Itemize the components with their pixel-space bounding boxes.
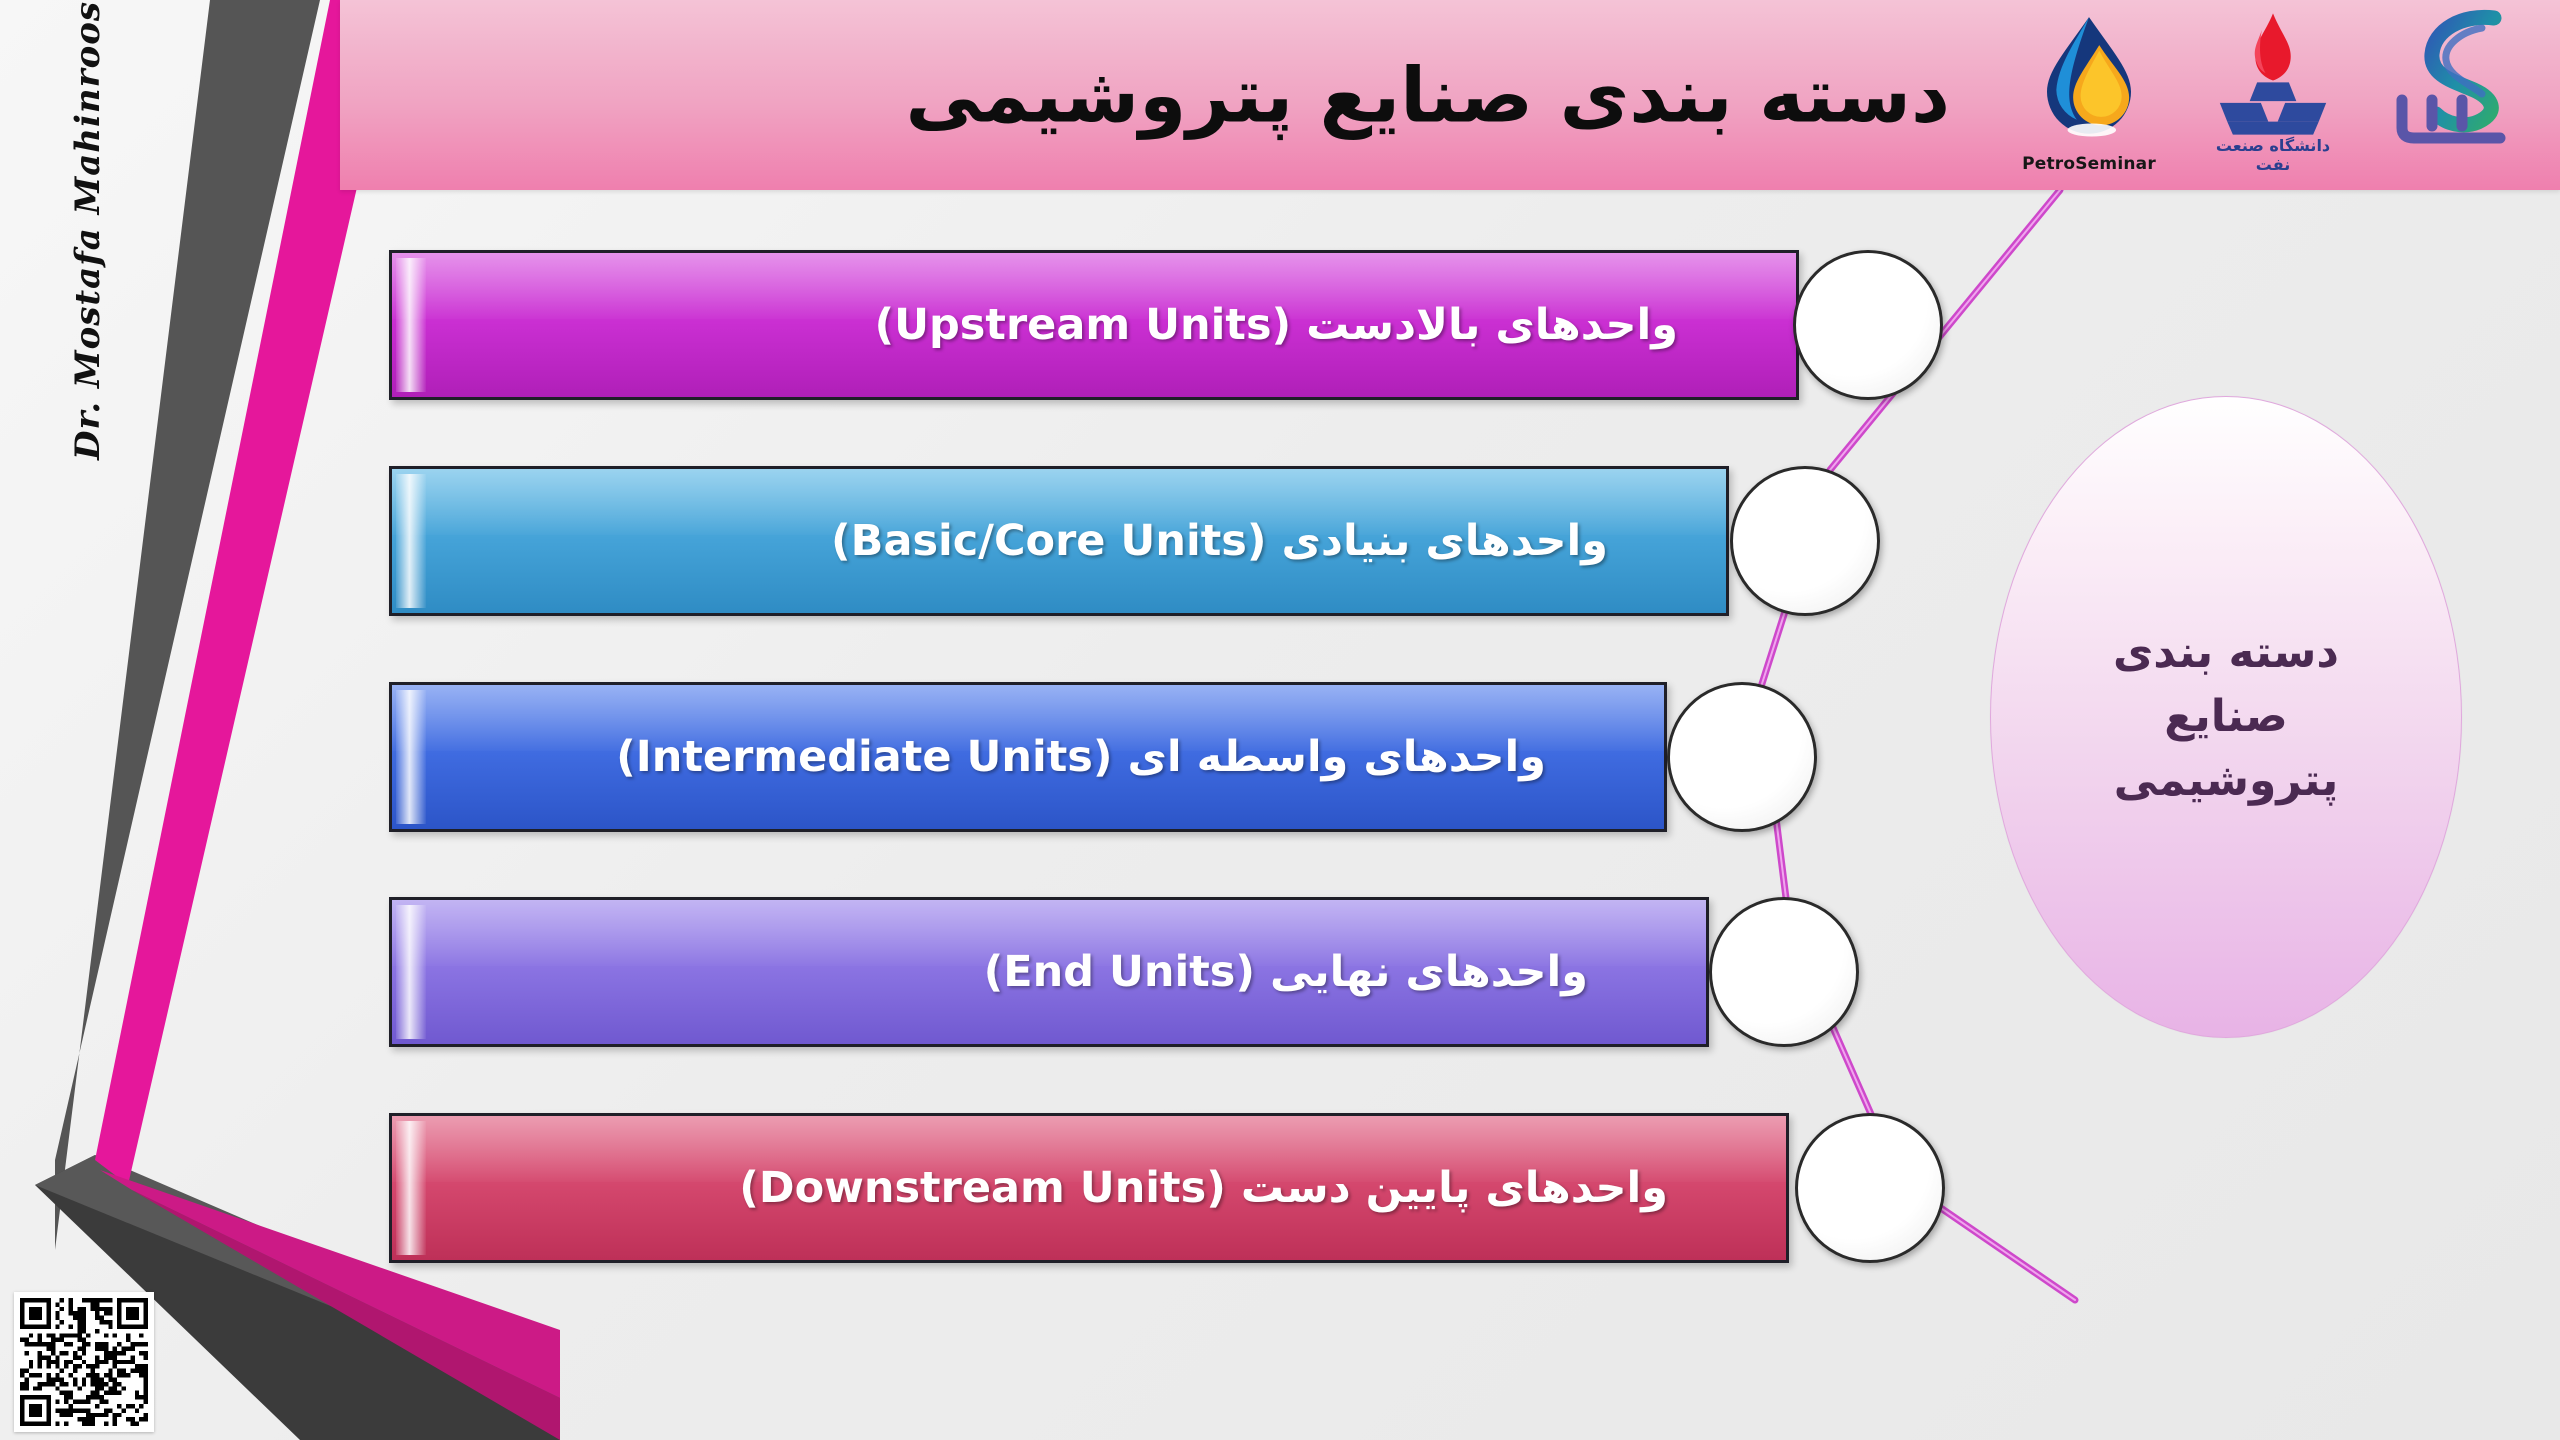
category-bar-end[interactable]: واحدهای نهایی (End Units) (389, 897, 1709, 1047)
node-downstream[interactable] (1795, 1113, 1945, 1263)
category-bar-label: واحدهای پایین دست (Downstream Units) (739, 1163, 1668, 1213)
flame-book-icon (2198, 4, 2348, 144)
logo-group: PetroSeminar دانشگاه صنعت نفت (2014, 4, 2532, 184)
header-band: دسته بندی صنایع پتروشیمی PetroSeminar (340, 0, 2560, 190)
petroleum-university-logo: دانشگاه صنعت نفت (2198, 4, 2348, 180)
sama-swirl-icon (2382, 4, 2532, 154)
summary-ellipse-label: دسته بندی صنایع پتروشیمی (2061, 621, 2391, 812)
petroseminar-caption: PetroSeminar (2014, 154, 2164, 174)
qr-code[interactable] (14, 1292, 154, 1432)
summary-ellipse: دسته بندی صنایع پتروشیمی (1990, 396, 2462, 1038)
node-basic[interactable] (1730, 466, 1880, 616)
petroleum-university-caption: دانشگاه صنعت نفت (2198, 136, 2348, 174)
category-bar-intermediate[interactable]: واحدهای واسطه ای (Intermediate Units) (389, 682, 1667, 832)
category-bar-label: واحدهای واسطه ای (Intermediate Units) (616, 732, 1546, 782)
node-intermediate[interactable] (1667, 682, 1817, 832)
category-bar-label: واحدهای بالادست (Upstream Units) (874, 300, 1678, 350)
sama-logo (2382, 4, 2532, 180)
droplet-flame-icon (2014, 4, 2164, 144)
petroseminar-logo: PetroSeminar (2014, 4, 2164, 180)
category-bar-basic-core[interactable]: واحدهای بنیادی (Basic/Core Units) (389, 466, 1729, 616)
category-bar-label: واحدهای نهایی (End Units) (984, 947, 1588, 997)
page-title: دسته بندی صنایع پتروشیمی (906, 51, 1950, 140)
category-bar-upstream[interactable]: واحدهای بالادست (Upstream Units) (389, 250, 1799, 400)
qr-code-canvas (20, 1298, 148, 1426)
author-signature: Dr. Mostafa Mahinroosta (68, 160, 108, 460)
node-upstream[interactable] (1793, 250, 1943, 400)
category-bar-downstream[interactable]: واحدهای پایین دست (Downstream Units) (389, 1113, 1789, 1263)
category-bar-label: واحدهای بنیادی (Basic/Core Units) (831, 516, 1608, 566)
slide-canvas: Dr. Mostafa Mahinroosta دسته بندی صنایع … (0, 0, 2560, 1440)
node-end[interactable] (1709, 897, 1859, 1047)
